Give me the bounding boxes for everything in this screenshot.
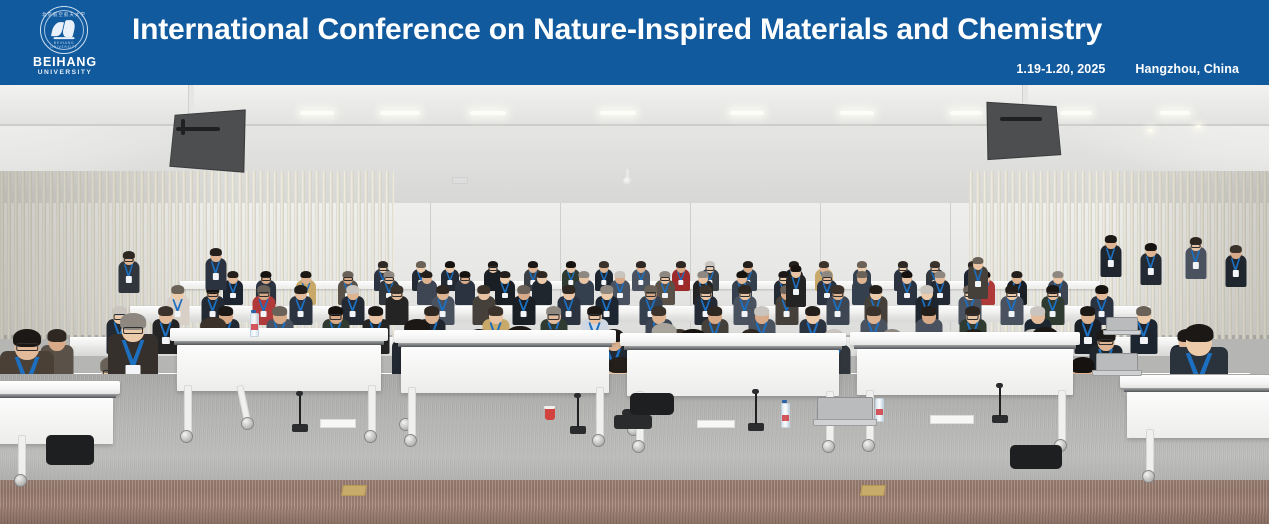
- attendee-glasses: [547, 314, 560, 319]
- conference-banner: 北京航空航天大学 BEIHANG UNIVERSITY BEIHANG UNIV…: [0, 0, 1269, 85]
- attendee-hair: [972, 257, 983, 264]
- attendee-hair: [1144, 243, 1156, 251]
- attendee-hair: [1184, 324, 1213, 343]
- attendee-glasses: [261, 277, 271, 281]
- attendee-hair: [921, 306, 937, 316]
- attendee-badge: [678, 280, 683, 285]
- front-table-left-edge: [0, 381, 120, 439]
- water-bottle: [250, 313, 259, 337]
- attendee-hair: [158, 306, 174, 316]
- table-caster: [180, 430, 193, 443]
- attendee-badge: [230, 293, 236, 298]
- attendee-hair: [566, 261, 576, 267]
- table-leg: [408, 387, 416, 439]
- attendee-glasses: [123, 258, 134, 263]
- table-caster: [364, 430, 377, 443]
- table-caster: [862, 439, 875, 452]
- coat-bundle: [46, 435, 94, 465]
- attendee-badge: [212, 273, 218, 279]
- attendee-hair: [676, 261, 686, 267]
- attendee: [532, 271, 552, 305]
- attendee-glasses: [343, 277, 353, 281]
- ceiling-monitor-right: [986, 102, 1061, 160]
- attendee-hair: [901, 271, 912, 278]
- ceiling-vent: [452, 177, 468, 184]
- attendee-glasses: [898, 266, 907, 270]
- attendee-hair: [499, 271, 510, 278]
- attendee-hair: [562, 285, 575, 294]
- attendee-hair: [346, 285, 359, 294]
- attendee-hair: [528, 261, 538, 267]
- attendee-hair: [1011, 271, 1022, 278]
- attendee-hair: [578, 271, 589, 278]
- table-leg: [1058, 390, 1066, 444]
- document-paper: [930, 415, 974, 424]
- bottle-cap: [251, 310, 256, 313]
- attendee-glasses: [384, 277, 394, 281]
- attendee-glasses: [378, 266, 387, 270]
- attendee-glasses: [966, 314, 979, 319]
- attendee-hair: [1052, 271, 1063, 278]
- table-caster: [241, 417, 254, 430]
- attendee-hair: [209, 248, 221, 256]
- attendee-hair: [294, 285, 307, 294]
- attendee-glasses: [822, 277, 832, 281]
- attendee-hair: [1080, 306, 1096, 316]
- monitor-mount-arm-right: [1000, 117, 1042, 121]
- attendee-badge: [834, 311, 841, 317]
- backpack: [1010, 445, 1062, 469]
- attendee-hair: [171, 285, 184, 294]
- attendee-hair: [736, 271, 747, 278]
- cove-light: [600, 111, 636, 115]
- conference-location: Hangzhou, China: [1135, 62, 1239, 76]
- attendee-hair: [697, 271, 708, 278]
- attendee-hair: [857, 261, 867, 267]
- attendee-hair: [819, 261, 829, 267]
- attendee: [512, 285, 535, 325]
- cove-light: [1060, 111, 1092, 115]
- bottle-cap: [782, 400, 787, 403]
- attendee-badge: [1232, 270, 1238, 276]
- attendee-badge: [297, 311, 304, 317]
- attendee-badge: [662, 293, 668, 298]
- conference-group-photo-page: 北京航空航天大学 BEIHANG UNIVERSITY BEIHANG UNIV…: [0, 0, 1269, 524]
- attendee-badge: [793, 289, 799, 295]
- attendee-glasses: [700, 292, 711, 297]
- attendee: [826, 285, 849, 325]
- attendee-hair: [600, 285, 613, 294]
- attendee: [223, 271, 243, 305]
- attendee-torso: [532, 280, 552, 305]
- table-leg: [368, 385, 376, 435]
- attendee-hair: [488, 306, 504, 316]
- conference-title: International Conference on Nature-Inspi…: [132, 13, 1102, 47]
- attendee-glasses: [660, 277, 670, 281]
- attendee-glasses: [930, 266, 939, 270]
- attendee-hair: [1104, 235, 1116, 243]
- cup-lid: [544, 406, 555, 409]
- attendee-hair: [272, 306, 288, 316]
- attendee-hair: [934, 271, 945, 278]
- front-table-2: [394, 330, 616, 394]
- front-table-3: [620, 333, 846, 399]
- monitor-mount-post-left: [181, 119, 185, 135]
- attendee-hair: [536, 271, 547, 278]
- front-table-1: [170, 328, 388, 392]
- attendee-hair: [743, 261, 753, 267]
- crest-ring-top-text: 北京航空航天大学: [41, 12, 87, 18]
- attendee-hair: [1229, 245, 1241, 253]
- attendee: [1225, 245, 1246, 287]
- carpet-border-texture: [0, 480, 1269, 524]
- table-caster: [822, 440, 835, 453]
- floor-tape-marker: [341, 485, 367, 496]
- attendee-hair: [517, 285, 530, 294]
- cove-light: [730, 111, 764, 115]
- attendee-glasses: [329, 314, 342, 319]
- attendee-glasses: [460, 277, 470, 281]
- conference-meta: 1.19-1.20, 2025Hangzhou, China: [1016, 60, 1239, 76]
- table-leg: [1146, 429, 1154, 475]
- cove-light: [1160, 111, 1190, 115]
- attendee-badge: [741, 311, 748, 317]
- attendee-glasses: [1098, 339, 1113, 345]
- attendee-hair: [227, 271, 238, 278]
- table-leg: [596, 387, 604, 439]
- attendee-badge: [1139, 337, 1147, 344]
- attendee-badge: [1192, 262, 1198, 268]
- attendee-hair: [651, 306, 667, 316]
- attendee-glasses: [588, 314, 601, 319]
- table-caster: [592, 434, 605, 447]
- table-caster: [632, 440, 645, 453]
- table-caster: [1142, 470, 1155, 483]
- beihang-university-crest-icon: 北京航空航天大学 BEIHANG UNIVERSITY: [40, 6, 88, 54]
- attendee-hair: [707, 306, 723, 316]
- crest-wing-mark-icon: [52, 20, 77, 39]
- attendee: [786, 265, 806, 307]
- attendee-hair: [636, 261, 646, 267]
- carpet-border-band: [0, 480, 1269, 524]
- cove-light: [470, 111, 506, 115]
- table-caster: [404, 434, 417, 447]
- attendee-badge: [1147, 268, 1153, 274]
- attendee-glasses: [832, 292, 843, 297]
- conference-date: 1.19-1.20, 2025: [1016, 62, 1105, 76]
- attendee-hair: [920, 285, 933, 294]
- table-leg: [18, 435, 26, 479]
- attendee-badge: [975, 281, 981, 287]
- attendee-glasses: [488, 266, 497, 270]
- attendee: [205, 248, 226, 290]
- attendee-badge: [1008, 311, 1015, 317]
- attendee-hair: [866, 306, 882, 316]
- attendee-hair: [445, 261, 455, 267]
- beihang-university-logo: 北京航空航天大学 BEIHANG UNIVERSITY BEIHANG UNIV…: [24, 4, 106, 82]
- logo-university-name: BEIHANG: [24, 56, 106, 69]
- downlight: [1196, 125, 1201, 128]
- cove-light: [950, 111, 982, 115]
- attendee: [1100, 235, 1121, 277]
- attendee-hair: [805, 306, 821, 316]
- attendee-hair: [1136, 306, 1152, 316]
- attendee-badge: [1107, 260, 1113, 266]
- attendee-hair: [599, 261, 609, 267]
- attendee-badge: [502, 293, 508, 298]
- floor-tape-marker: [860, 485, 886, 496]
- attendee: [1000, 285, 1023, 325]
- attendee-badge: [161, 337, 169, 344]
- attendee-hair: [368, 306, 384, 316]
- attendee: [1140, 243, 1161, 285]
- attendee-hair: [300, 271, 311, 278]
- attendee-glasses: [739, 292, 750, 297]
- attendee-glasses: [391, 292, 402, 297]
- attendee-glasses: [258, 292, 269, 297]
- table-leg: [184, 385, 192, 435]
- attendee-glasses: [1047, 292, 1058, 297]
- attendee-hair: [421, 271, 432, 278]
- attendee-badge: [783, 311, 790, 317]
- attendee-badge: [520, 311, 527, 317]
- attendee-hair: [1095, 285, 1108, 294]
- cove-light: [840, 111, 874, 115]
- attendee-glasses: [1190, 244, 1201, 249]
- red-paper-cup: [545, 408, 555, 420]
- attendee-glasses: [16, 343, 38, 351]
- attendee: [1185, 237, 1206, 279]
- downlight: [1148, 129, 1153, 132]
- attendee-badge: [125, 276, 131, 282]
- table-caster: [14, 474, 27, 487]
- logo-university-sub: UNIVERSITY: [24, 69, 106, 76]
- attendee: [897, 271, 917, 305]
- attendee-hair: [790, 265, 801, 272]
- attendee-hair: [614, 271, 625, 278]
- backpack: [630, 393, 674, 415]
- attendee-glasses: [1006, 292, 1017, 297]
- attendee-hair: [1030, 306, 1046, 316]
- attendee-hair: [424, 306, 440, 316]
- attendee-hair: [218, 306, 234, 316]
- cove-light: [380, 111, 420, 115]
- ptz-dome-camera-icon: [623, 177, 632, 186]
- document-paper: [697, 420, 735, 428]
- front-table-4: [850, 332, 1080, 398]
- cove-light: [300, 111, 334, 115]
- attendee-hair: [869, 285, 882, 294]
- attendee-glasses: [705, 266, 714, 270]
- attendee-hair: [754, 306, 770, 316]
- attendee-glasses: [207, 292, 218, 297]
- attendee-hair: [477, 285, 490, 294]
- attendee-glasses: [645, 292, 656, 297]
- group-photo-image: [0, 85, 1269, 524]
- attendee-glasses: [123, 327, 143, 335]
- attendee-badge: [349, 311, 356, 317]
- document-paper: [320, 419, 356, 428]
- crest-ring-bottom-text: BEIHANG UNIVERSITY: [41, 41, 87, 49]
- attendee-hair: [436, 285, 449, 294]
- water-bottle: [781, 403, 790, 428]
- attendee: [968, 257, 988, 299]
- camera-equipment: [614, 415, 652, 429]
- attendee-badge: [904, 293, 910, 298]
- front-table-right-edge: [1120, 375, 1269, 433]
- attendee-hair: [856, 271, 867, 278]
- attendee: [118, 251, 139, 293]
- attendee-hair: [416, 261, 426, 267]
